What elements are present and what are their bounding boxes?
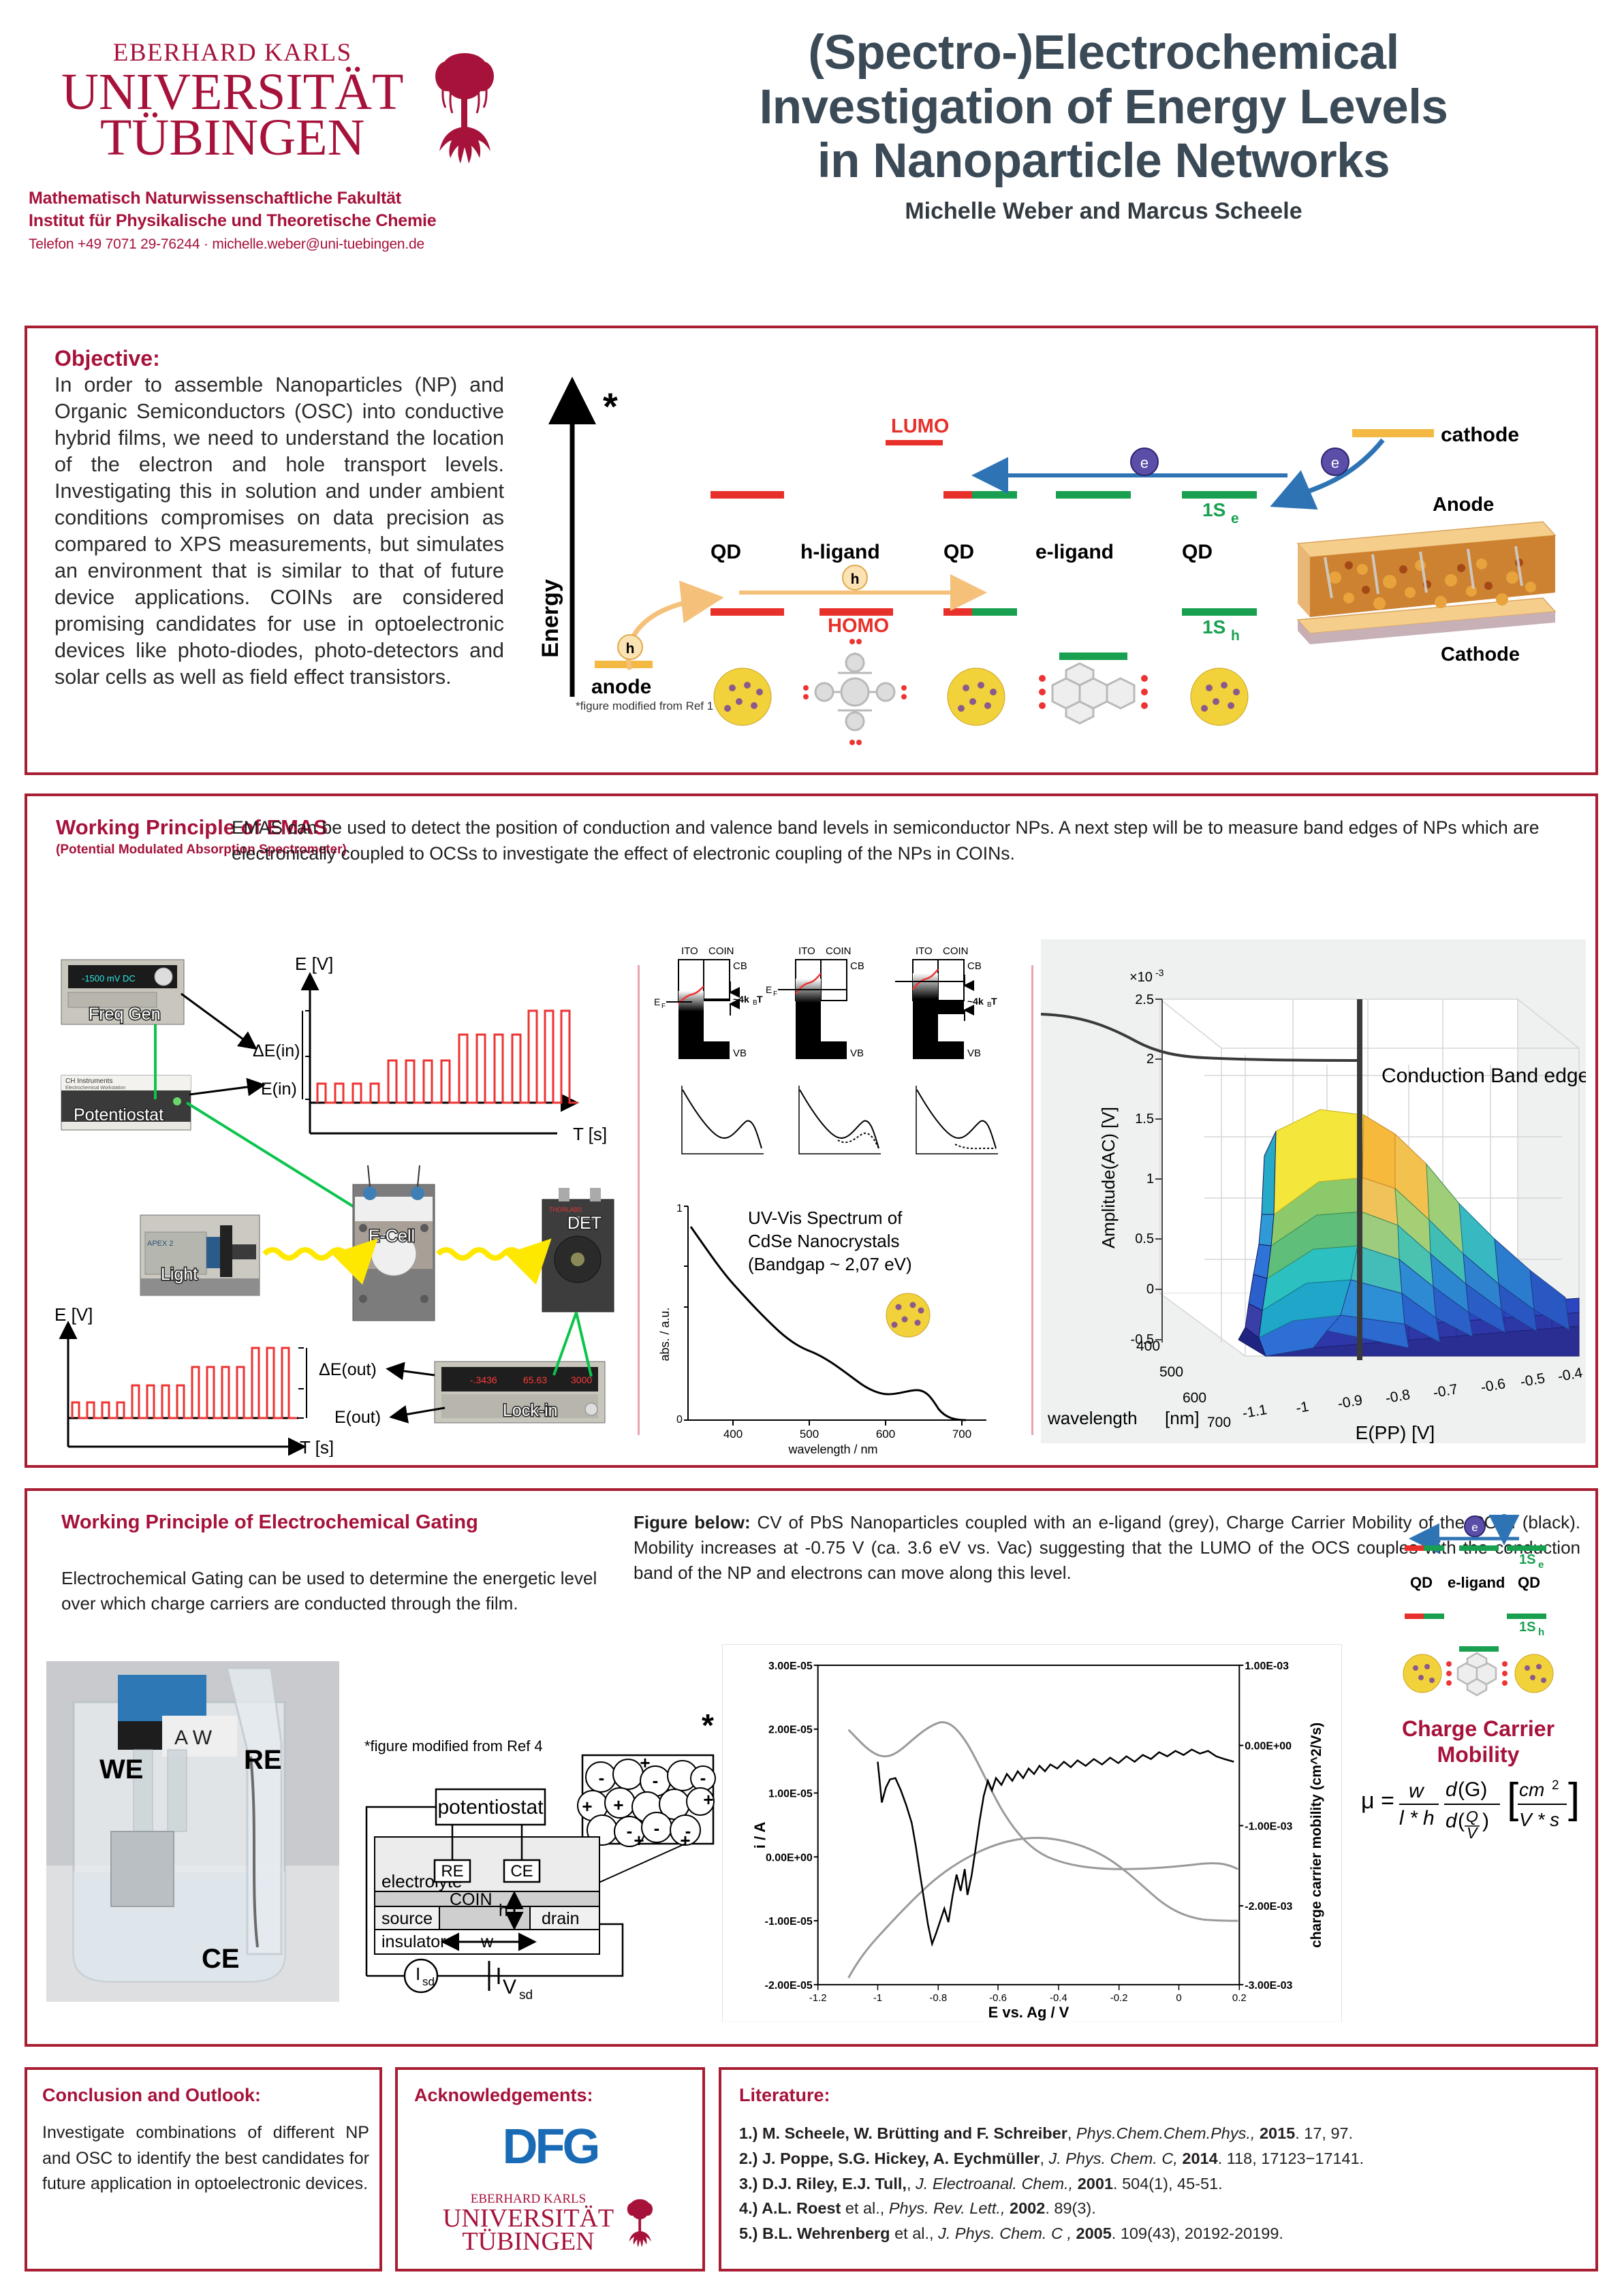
section-acknowledgements: Acknowledgements: DFG EBERHARD KARLS UNI…	[395, 2067, 705, 2271]
ack-tree-icon	[622, 2192, 657, 2254]
svg-text:h: h	[626, 641, 635, 657]
svg-text:ΔE(in): ΔE(in)	[253, 1041, 300, 1060]
svg-text:V * s: V * s	[1519, 1809, 1559, 1830]
svg-text:e: e	[1471, 1521, 1478, 1534]
gating-body: Electrochemical Gating can be used to de…	[61, 1566, 599, 1616]
svg-text:1.00E-03: 1.00E-03	[1245, 1661, 1289, 1672]
lockin-photo: -.3436 65.63 3000 Lock-in	[435, 1362, 605, 1423]
svg-text:Mobility: Mobility	[1437, 1742, 1520, 1767]
cell-photo-svg: A W WE RE CE	[46, 1661, 339, 2002]
svg-text:e-ligand: e-ligand	[1448, 1574, 1505, 1591]
svg-text:-2.00E-03: -2.00E-03	[1245, 1901, 1292, 1913]
section-gating: Working Principle of Electrochemical Gat…	[25, 1488, 1598, 2047]
svg-text:+: +	[703, 1789, 713, 1810]
schematic-h: h	[499, 1901, 508, 1920]
conclusion-body: Investigate combinations of different NP…	[42, 2120, 369, 2197]
schematic-vsd: V	[503, 1976, 516, 1998]
title-block: (Spectro-)Electrochemical Investigation …	[599, 26, 1608, 225]
cv-mobility-chart: 3.00E-05 2.00E-05 1.00E-05 0.00E+00 -1.0…	[722, 1644, 1342, 2022]
svg-text:-.3436: -.3436	[470, 1374, 497, 1385]
label-ce: CE	[202, 1944, 240, 1974]
section-emas: Working Principle of EMAS (Potential Mod…	[25, 793, 1598, 1468]
svg-text:+: +	[680, 1830, 690, 1851]
svg-text:abs. / a.u.: abs. / a.u.	[658, 1307, 672, 1361]
svg-text:E vs. Ag / V: E vs. Ag / V	[988, 2004, 1069, 2021]
svg-text:0: 0	[1146, 1282, 1154, 1297]
mobility-panel-svg: e 1S e QD e-ligand QD 1S h	[1356, 1505, 1601, 2029]
surface-ylabel-a: wavelength	[1047, 1408, 1138, 1428]
svg-text:e: e	[1538, 1559, 1544, 1571]
poster-header: EBERHARD KARLS UNIVERSITÄT TÜBINGEN	[0, 0, 1624, 310]
svg-text:QD: QD	[1182, 541, 1213, 563]
svg-text:Anode: Anode	[1433, 494, 1494, 516]
poster-title-line-2: Investigation of Energy Levels	[599, 80, 1608, 135]
literature-item: 4.) A.L. Roest et al., Phys. Rev. Lett.,…	[739, 2197, 1577, 2220]
logo-line-3: TÜBINGEN	[61, 112, 403, 163]
svg-text:wavelength / nm: wavelength / nm	[787, 1443, 877, 1456]
svg-text:UV-Vis Spectrum of: UV-Vis Spectrum of	[748, 1208, 903, 1228]
panel-divider-right	[1031, 965, 1033, 1435]
svg-text:1S: 1S	[1202, 616, 1225, 638]
poster-title-line-1: (Spectro-)Electrochemical	[599, 26, 1608, 80]
svg-text:-0.6: -0.6	[989, 1992, 1007, 2004]
cdse-nanoparticle-icon	[886, 1293, 930, 1337]
svg-text:COIN: COIN	[708, 945, 734, 957]
poster-root: EBERHARD KARLS UNIVERSITÄT TÜBINGEN	[0, 0, 1624, 2296]
svg-text:0: 0	[676, 1414, 683, 1426]
svg-text:V: V	[1467, 1824, 1479, 1842]
svg-text:HOMO: HOMO	[828, 615, 889, 637]
svg-text:l * h: l * h	[1399, 1807, 1435, 1829]
svg-text:Amplitude(AC) [V]: Amplitude(AC) [V]	[1098, 1107, 1119, 1248]
svg-text:Q: Q	[1466, 1808, 1478, 1825]
poster-authors: Michelle Weber and Marcus Scheele	[599, 198, 1608, 225]
svg-text:700: 700	[1207, 1415, 1231, 1430]
svg-text:e-ligand: e-ligand	[1035, 541, 1114, 563]
svg-text:1S: 1S	[1202, 499, 1225, 520]
svg-text:QD: QD	[710, 541, 741, 563]
ack-wordmark: EBERHARD KARLS UNIVERSITÄT TÜBINGEN	[443, 2192, 614, 2254]
svg-text:T [s]: T [s]	[300, 1437, 334, 1457]
svg-text:-1: -1	[873, 1992, 882, 2004]
svg-text:*: *	[603, 385, 618, 428]
svg-text:Cathode: Cathode	[1441, 644, 1520, 665]
svg-text:(: (	[1458, 1810, 1465, 1832]
svg-text:e: e	[1231, 511, 1239, 526]
schematic-ce: CE	[510, 1862, 533, 1881]
svg-text:h: h	[851, 571, 860, 587]
gating-schematic-svg: *figure modified from Ref 4 * -+--	[347, 1661, 729, 2009]
svg-text:E: E	[766, 984, 772, 995]
institute-line: Institut für Physikalische und Theoretis…	[29, 210, 574, 232]
emas-surface-plot: ×10-3 2.521.5 10.50 -0.5 Amplitude(AC) […	[1041, 939, 1586, 1443]
svg-text:]: ]	[1568, 1775, 1580, 1822]
detector-photo: THORLABS DET05D/M DET	[542, 1188, 614, 1312]
logo-line-1: EBERHARD KARLS	[61, 41, 403, 65]
svg-text:d: d	[1446, 1778, 1458, 1801]
tuebingen-tree-icon	[424, 44, 505, 173]
emas-intro-text: EMAS can be used to detect the position …	[232, 815, 1587, 866]
schematic-drain: drain	[542, 1909, 580, 1928]
figure-below-label: Figure below:	[634, 1512, 751, 1532]
svg-text:Electrochemical Workstation: Electrochemical Workstation	[65, 1086, 125, 1090]
svg-text:VB: VB	[850, 1048, 864, 1059]
svg-text:0.00E+00: 0.00E+00	[766, 1852, 813, 1863]
svg-text:+: +	[640, 1752, 650, 1773]
contact-line: Telefon +49 7071 29-76244 · michelle.web…	[29, 234, 574, 255]
svg-text:400: 400	[723, 1428, 743, 1441]
svg-text:ITO: ITO	[798, 945, 815, 957]
uvvis-chart: 1 0 abs. / a.u. 400 500 600	[658, 1203, 986, 1456]
surface-xlabel: E(PP) [V]	[1356, 1422, 1435, 1443]
svg-text:VB: VB	[967, 1048, 981, 1059]
svg-text:F: F	[661, 1003, 666, 1010]
ecell-photo: E-Cell	[353, 1165, 435, 1321]
schematic-source: source	[381, 1909, 433, 1928]
poster-title-line-3: in Nanoparticle Networks	[599, 134, 1608, 189]
svg-text:): )	[1482, 1810, 1489, 1832]
svg-text:h: h	[1231, 628, 1240, 644]
svg-text:600: 600	[1183, 1390, 1206, 1406]
svg-text:-: -	[653, 1770, 659, 1791]
svg-text:h-ligand: h-ligand	[800, 541, 880, 563]
svg-text:1S: 1S	[1519, 1620, 1535, 1635]
svg-text:500: 500	[800, 1428, 819, 1441]
light-source-photo: APEX 2 Light	[140, 1215, 260, 1295]
cv-chart-svg: 3.00E-05 2.00E-05 1.00E-05 0.00E+00 -1.0…	[723, 1645, 1341, 2022]
svg-text:-0.2: -0.2	[1110, 1992, 1128, 2004]
svg-text:μ =: μ =	[1361, 1788, 1394, 1814]
svg-text:+: +	[634, 1830, 644, 1851]
coin-film-illustration: Anode Cathode	[1298, 494, 1555, 665]
svg-text:CH Instruments: CH Instruments	[65, 1078, 112, 1085]
band-diagram-3: ITOCOIN CB ~4kBT VB	[895, 945, 997, 1059]
svg-text:65.63: 65.63	[523, 1374, 547, 1385]
surface-plot-svg: ×10-3 2.521.5 10.50 -0.5 Amplitude(AC) […	[1041, 939, 1586, 1443]
schematic-potentiostat: potentiostat	[437, 1796, 544, 1819]
svg-text:E: E	[654, 996, 660, 1007]
svg-text:-0.8: -0.8	[929, 1992, 947, 2004]
svg-text:500: 500	[1159, 1364, 1183, 1380]
schematic-re: RE	[441, 1862, 463, 1881]
emas-setup-svg: -1500 mV DC Freq Gen CH Instruments Elec…	[53, 939, 625, 1457]
svg-text:-1.00E-05: -1.00E-05	[765, 1916, 813, 1928]
svg-text:cm: cm	[1519, 1779, 1544, 1800]
svg-text:w: w	[1409, 1780, 1425, 1802]
svg-text:VB: VB	[733, 1048, 747, 1059]
svg-text:d: d	[1446, 1810, 1458, 1832]
literature-item: 1.) M. Scheele, W. Brütting and F. Schre…	[739, 2122, 1577, 2145]
band-diagram-1: ITOCOIN CB EF ~4kBT VB	[654, 945, 763, 1059]
svg-text:-: -	[700, 1767, 706, 1788]
svg-text:T: T	[991, 996, 997, 1007]
panel-divider-left	[638, 965, 640, 1435]
svg-text:h: h	[1538, 1626, 1544, 1638]
mobility-panel: e 1S e QD e-ligand QD 1S h	[1356, 1505, 1601, 2029]
svg-text:E(in): E(in)	[261, 1080, 297, 1099]
svg-text:400: 400	[1136, 1338, 1160, 1354]
section-conclusion: Conclusion and Outlook: Investigate comb…	[25, 2067, 382, 2271]
svg-text:1.00E-05: 1.00E-05	[768, 1789, 813, 1800]
acknowledgements-university-logo: EBERHARD KARLS UNIVERSITÄT TÜBINGEN	[443, 2192, 657, 2254]
schematic-isd: I	[416, 1964, 420, 1984]
svg-text:Energy: Energy	[537, 579, 563, 657]
svg-text:E-Cell: E-Cell	[369, 1227, 415, 1246]
emas-output-chart: E [V] T [s]	[54, 1304, 334, 1457]
university-logo: EBERHARD KARLS UNIVERSITÄT TÜBINGEN	[61, 41, 579, 173]
freq-gen-photo: -1500 mV DC Freq Gen	[61, 960, 184, 1024]
mobility-formula: μ = w l * h d (G) d ( Q V ) [ cm 2	[1361, 1775, 1580, 1842]
svg-text:ΔE(out): ΔE(out)	[319, 1360, 377, 1379]
svg-text:cathode: cathode	[1441, 424, 1519, 446]
svg-text:-2.00E-05: -2.00E-05	[765, 1980, 813, 1992]
svg-text:-3: -3	[1155, 967, 1164, 978]
objective-body: In order to assemble Nanoparticles (NP) …	[54, 372, 504, 691]
svg-text:2: 2	[1146, 1052, 1154, 1067]
emas-middle-panel: ITOCOIN CB EF ~4kBT VB	[646, 939, 1027, 1457]
schematic-insulator: insulator	[381, 1932, 446, 1951]
svg-text:COIN: COIN	[943, 945, 969, 957]
objective-heading: Objective:	[54, 346, 160, 371]
svg-text:Freq Gen: Freq Gen	[89, 1005, 161, 1024]
schematic-figure-note: *figure modified from Ref 4	[364, 1737, 543, 1755]
svg-text:1: 1	[1146, 1171, 1154, 1186]
svg-text:-3.00E-03: -3.00E-03	[1245, 1980, 1292, 1992]
svg-text:0.00E+00: 0.00E+00	[1245, 1741, 1292, 1752]
svg-text:CB: CB	[850, 960, 864, 972]
svg-text:E [V]: E [V]	[295, 954, 333, 974]
svg-text:1S: 1S	[1519, 1552, 1535, 1567]
energy-diagram-svg: Energy * anode cathode LUMO 1S e	[535, 353, 1563, 761]
svg-text:Charge Carrier: Charge Carrier	[1402, 1716, 1555, 1741]
section-literature: Literature: 1.) M. Scheele, W. Brütting …	[719, 2067, 1598, 2271]
ack-logo-line-3: TÜBINGEN	[443, 2229, 614, 2254]
svg-text:~4k: ~4k	[967, 996, 984, 1007]
svg-text:0.2: 0.2	[1232, 1992, 1247, 2004]
svg-text:×10: ×10	[1129, 970, 1153, 985]
svg-text:-: -	[627, 1821, 633, 1841]
svg-text:THORLABS: THORLABS	[549, 1206, 582, 1213]
literature-item: 2.) J. Poppe, S.G. Hickey, A. Eychmüller…	[739, 2147, 1577, 2171]
svg-text:LUMO: LUMO	[891, 415, 949, 437]
svg-text:700: 700	[952, 1428, 971, 1441]
svg-text:Light: Light	[161, 1265, 198, 1284]
svg-text:COIN: COIN	[826, 945, 852, 957]
svg-text:-1.2: -1.2	[809, 1992, 827, 2004]
svg-text:CdSe Nanocrystals: CdSe Nanocrystals	[748, 1231, 900, 1251]
electrochemical-cell-photo: A W WE RE CE	[46, 1661, 339, 2002]
gating-heading: Working Principle of Electrochemical Gat…	[61, 1511, 478, 1534]
svg-text:DET: DET	[567, 1214, 602, 1233]
conduction-band-edge-label: Conduction Band edge	[1381, 1065, 1586, 1087]
section-objective: Objective: In order to assemble Nanopart…	[25, 326, 1598, 775]
svg-text:2.00E-05: 2.00E-05	[768, 1725, 813, 1736]
svg-text:-1500 mV DC: -1500 mV DC	[82, 973, 136, 984]
svg-text:ITO: ITO	[916, 945, 933, 957]
svg-text:QD: QD	[1518, 1574, 1540, 1591]
svg-text:[: [	[1507, 1775, 1518, 1822]
label-re: RE	[244, 1745, 282, 1775]
electrode-label-aw: A W	[174, 1727, 213, 1749]
schematic-asterisk: *	[702, 1708, 714, 1743]
svg-text:3.00E-05: 3.00E-05	[768, 1661, 813, 1672]
emas-panels: -1500 mV DC Freq Gen CH Instruments Elec…	[33, 932, 1593, 1464]
surface-ylabel-b: [nm]	[1165, 1408, 1200, 1428]
schematic-vsd-sub: sd	[519, 1988, 533, 2002]
svg-text:600: 600	[876, 1428, 895, 1441]
svg-text:-: -	[654, 1818, 660, 1838]
svg-text:Lock-in: Lock-in	[503, 1401, 558, 1420]
svg-text:~4k: ~4k	[733, 994, 749, 1005]
dfg-logo: DFG	[503, 2119, 598, 2175]
svg-text:e: e	[1331, 454, 1339, 471]
department-block: Mathematisch Naturwissenschaftliche Faku…	[29, 187, 574, 255]
svg-text:-0.4: -0.4	[1050, 1992, 1067, 2004]
emas-input-chart: E [V] T [s]	[295, 954, 607, 1144]
schematic-isd-sub: sd	[422, 1975, 435, 1988]
svg-text:+: +	[582, 1796, 592, 1817]
svg-text:2: 2	[1552, 1778, 1559, 1793]
svg-text:-1: -1	[1295, 1399, 1310, 1417]
svg-text:charge carrier mobility (cm^2/: charge carrier mobility (cm^2/Vs)	[1309, 1723, 1324, 1948]
svg-text:-1.00E-03: -1.00E-03	[1245, 1821, 1292, 1832]
logo-wordmark: EBERHARD KARLS UNIVERSITÄT TÜBINGEN	[61, 41, 403, 163]
svg-text:1.5: 1.5	[1135, 1112, 1154, 1127]
svg-text:Potentiostat: Potentiostat	[74, 1105, 163, 1125]
svg-text:E [V]: E [V]	[54, 1304, 93, 1325]
band-diagram-2: ITOCOIN CB EF VB	[766, 945, 864, 1059]
svg-text:F: F	[773, 990, 777, 998]
svg-text:2.5: 2.5	[1135, 992, 1154, 1007]
band-and-uvvis-svg: ITOCOIN CB EF ~4kBT VB	[646, 939, 1027, 1457]
svg-text:-: -	[599, 1767, 605, 1788]
svg-text:3000: 3000	[571, 1374, 592, 1385]
literature-item: 3.) D.J. Riley, E.J. Tull,, J. Electroan…	[739, 2172, 1577, 2196]
gating-schematic: *figure modified from Ref 4 * -+--	[347, 1661, 729, 2009]
svg-text:QD: QD	[1410, 1574, 1433, 1591]
svg-text:ITO: ITO	[681, 945, 698, 957]
acknowledgements-heading: Acknowledgements:	[414, 2085, 593, 2106]
svg-text:0: 0	[1176, 1992, 1181, 2004]
svg-text:anode: anode	[591, 676, 651, 698]
emas-setup-diagram: -1500 mV DC Freq Gen CH Instruments Elec…	[53, 939, 625, 1457]
svg-text:E(out): E(out)	[334, 1408, 381, 1427]
svg-text:+: +	[613, 1795, 623, 1815]
svg-text:e: e	[1140, 454, 1149, 471]
literature-item: 5.) B.L. Wehrenberg et al., J. Phys. Che…	[739, 2222, 1577, 2246]
label-we: WE	[99, 1755, 143, 1784]
energy-level-diagram: Energy * anode cathode LUMO 1S e	[535, 353, 1563, 761]
svg-text:CB: CB	[733, 960, 747, 972]
schematic-w: w	[480, 1932, 494, 1951]
svg-text:1: 1	[676, 1203, 683, 1214]
conclusion-heading: Conclusion and Outlook:	[42, 2085, 261, 2106]
faculty-line: Mathematisch Naturwissenschaftliche Faku…	[29, 187, 574, 210]
svg-text:T: T	[757, 994, 763, 1005]
svg-text:QD: QD	[943, 541, 974, 563]
svg-text:CB: CB	[967, 960, 982, 972]
potentiostat-photo: CH Instruments Electrochemical Workstati…	[61, 1075, 191, 1130]
schematic-coin: COIN	[450, 1890, 493, 1909]
svg-text:(G): (G)	[1458, 1778, 1487, 1801]
svg-text:(Bandgap ~ 2,07 eV): (Bandgap ~ 2,07 eV)	[748, 1254, 912, 1274]
literature-heading: Literature:	[739, 2085, 830, 2106]
svg-text:0.5: 0.5	[1135, 1231, 1154, 1246]
svg-text:APEX 2: APEX 2	[147, 1240, 174, 1248]
literature-list: 1.) M. Scheele, W. Brütting and F. Schre…	[739, 2122, 1577, 2247]
svg-text:T [s]: T [s]	[573, 1124, 607, 1144]
svg-text:i / A: i / A	[751, 1822, 768, 1849]
